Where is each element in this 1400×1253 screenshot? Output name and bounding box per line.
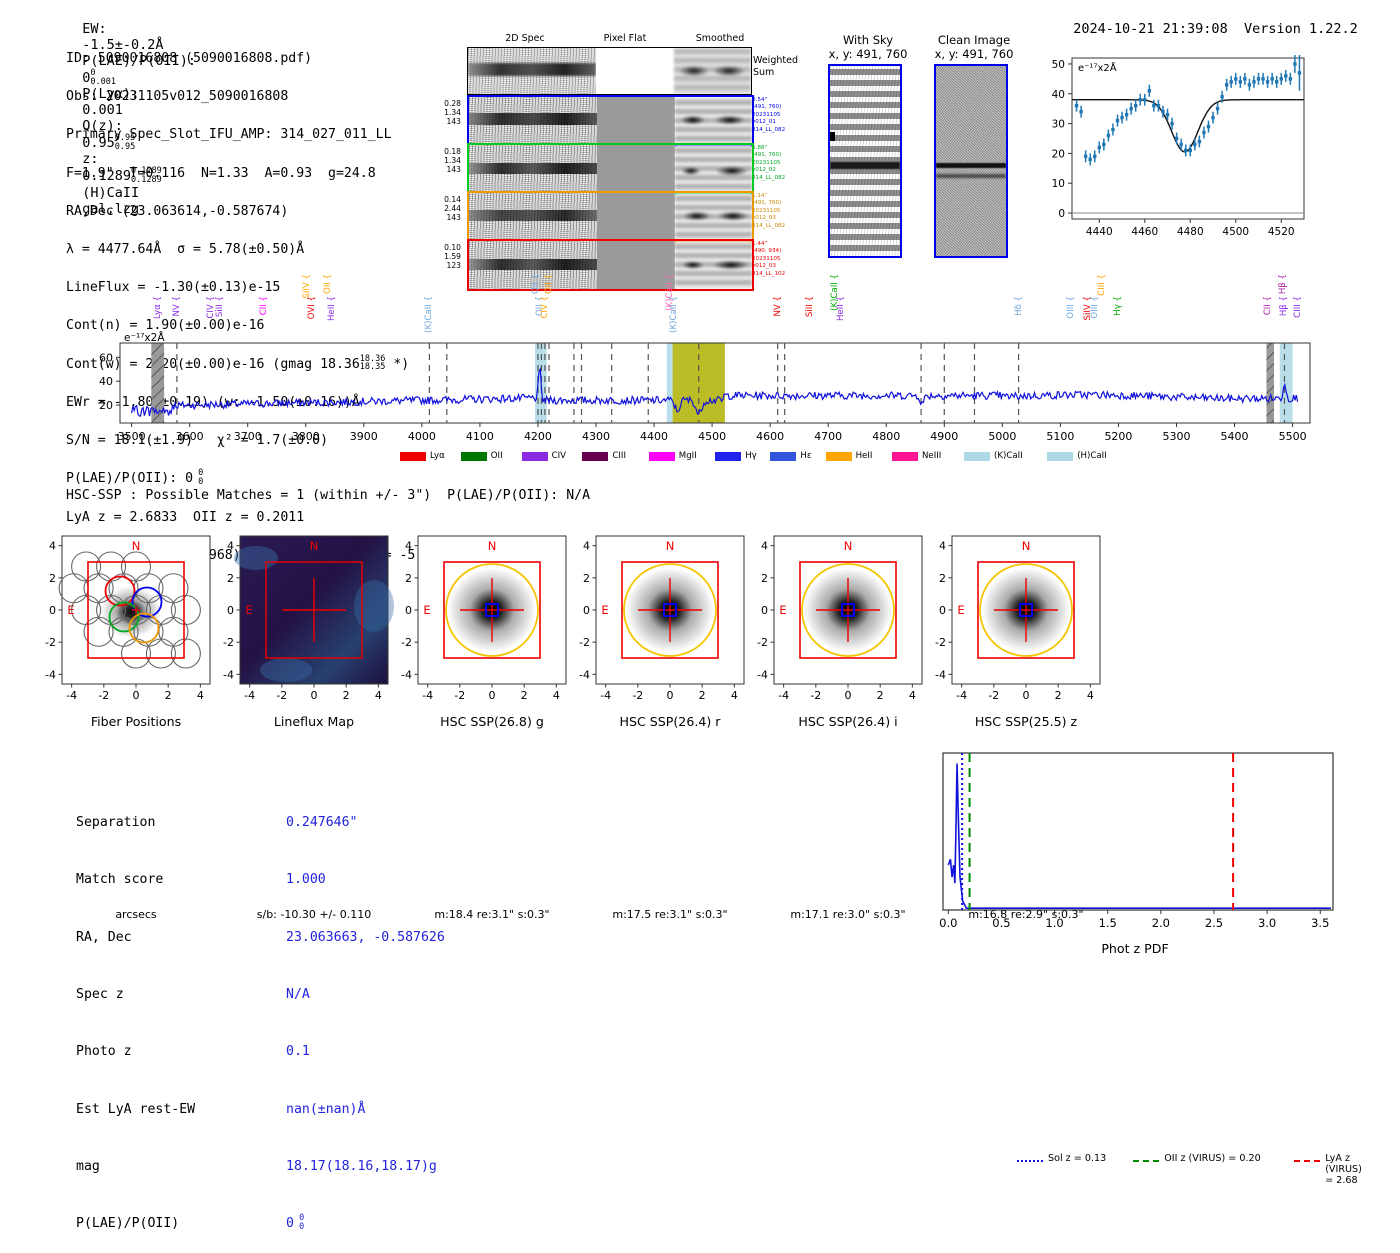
compass-n: N — [132, 539, 141, 553]
svg-text:4: 4 — [49, 540, 56, 553]
spec2d-row-stats: 0.10 1.59 123 — [425, 243, 461, 271]
svg-text:4460: 4460 — [1131, 226, 1158, 238]
svg-text:2: 2 — [877, 689, 884, 702]
legend-swatch — [964, 452, 990, 461]
spec2d-row — [467, 143, 754, 195]
svg-text:4480: 4480 — [1177, 226, 1204, 238]
legend-label: Lyα — [430, 451, 445, 461]
svg-text:0: 0 — [939, 604, 946, 617]
svg-text:3500: 3500 — [118, 430, 146, 443]
svg-text:-2: -2 — [276, 689, 287, 702]
svg-text:e⁻¹⁷x2Å: e⁻¹⁷x2Å — [1078, 61, 1117, 74]
match-table-keys: Separation Match score RA, Dec Spec z Ph… — [76, 775, 195, 1252]
svg-text:-4: -4 — [956, 689, 967, 702]
svg-text:3800: 3800 — [292, 430, 320, 443]
panel-title-fiber-positions: Fiber Positions — [42, 714, 230, 729]
with-sky-title: With Sky — [814, 33, 922, 47]
compass-e: E — [957, 603, 964, 617]
svg-text:5000: 5000 — [988, 430, 1016, 443]
svg-text:0: 0 — [405, 604, 412, 617]
svg-text:2: 2 — [49, 572, 56, 585]
svg-text:0: 0 — [761, 604, 768, 617]
svg-text:4: 4 — [227, 540, 234, 553]
svg-text:4: 4 — [197, 689, 204, 702]
compass-n: N — [1022, 539, 1031, 553]
legend-label: Hγ — [745, 451, 757, 461]
compass-e: E — [67, 603, 74, 617]
panel-caption-hsc-r: m:17.5 re:3.1" s:0.3" — [568, 908, 772, 921]
legend-label: Hε — [800, 451, 811, 461]
svg-text:4900: 4900 — [930, 430, 958, 443]
phot-z-title: Phot z PDF — [925, 941, 1345, 956]
key-photo-z: Photo z — [76, 1042, 195, 1061]
svg-text:0: 0 — [311, 689, 318, 702]
svg-text:4200: 4200 — [524, 430, 552, 443]
svg-text:3.0: 3.0 — [1258, 916, 1276, 930]
value-plae: 0 0 0 — [286, 1214, 445, 1233]
spectral-line-label: SiII { — [805, 296, 815, 317]
svg-text:4700: 4700 — [814, 430, 842, 443]
info-primary: Primary Spec_Slot_IFU_AMP: 314_027_011_L… — [66, 125, 439, 144]
value-radec: 23.063663, -0.587626 — [286, 928, 445, 947]
svg-text:4: 4 — [731, 689, 738, 702]
phot-z-pdf-chart: 0.00.51.01.52.02.53.03.5 Phot z PDFSol z… — [925, 735, 1345, 953]
compass-n: N — [666, 539, 675, 553]
legend-swatch — [892, 452, 918, 461]
full-spectrum-chart: 3500360037003800390040004100420043004400… — [0, 268, 1400, 478]
cutout-panel-row: -4-4-2-2002244NE-4-4-2-2002244NE-4-4-2-2… — [0, 508, 1400, 708]
spectral-line-label: OII { — [323, 274, 333, 294]
svg-text:2.0: 2.0 — [1152, 916, 1170, 930]
value-plae-num: 0 — [286, 1216, 294, 1231]
svg-text:-2: -2 — [98, 689, 109, 702]
spectral-line-label: Hβ { — [1279, 296, 1289, 316]
panel-title-lineflux-map: Lineflux Map — [220, 714, 408, 729]
svg-text:0: 0 — [845, 689, 852, 702]
spectral-line-label: (K)CaII { — [669, 296, 679, 333]
spec2d-row — [467, 95, 754, 147]
legend-swatch — [1047, 452, 1073, 461]
svg-text:-4: -4 — [45, 668, 56, 681]
compass-n: N — [844, 539, 853, 553]
svg-text:3.5: 3.5 — [1311, 916, 1329, 930]
svg-text:20: 20 — [99, 399, 113, 412]
svg-text:-4: -4 — [223, 668, 234, 681]
value-plae-lo: 0 — [299, 1222, 304, 1232]
svg-text:1.0: 1.0 — [1045, 916, 1063, 930]
spec2d-row — [467, 191, 754, 243]
spec2d-row-stats: 0.14 2.44 143 — [425, 195, 461, 223]
hsc-heading: HSC-SSP : Possible Matches = 1 (within +… — [66, 488, 590, 503]
photz-legend-swatch — [1133, 1160, 1159, 1162]
legend-swatch — [715, 452, 741, 461]
svg-text:0: 0 — [1058, 208, 1065, 220]
spec2d-row-stats: 0.28 1.34 143 — [425, 99, 461, 127]
value-separation: 0.247646" — [286, 813, 445, 832]
svg-text:2: 2 — [227, 572, 234, 585]
svg-text:-2: -2 — [45, 636, 56, 649]
value-mag: 18.17(18.16,18.17)g — [286, 1157, 445, 1176]
svg-text:5400: 5400 — [1221, 430, 1249, 443]
legend-swatch — [770, 452, 796, 461]
compass-e: E — [423, 603, 430, 617]
svg-text:4: 4 — [405, 540, 412, 553]
svg-text:-2: -2 — [579, 636, 590, 649]
svg-text:0: 0 — [227, 604, 234, 617]
svg-text:2: 2 — [521, 689, 528, 702]
svg-text:-2: -2 — [935, 636, 946, 649]
legend-label: NeIII — [922, 451, 941, 461]
legend-swatch — [400, 452, 426, 461]
legend-swatch — [649, 452, 675, 461]
svg-text:2: 2 — [699, 689, 706, 702]
spectral-line-label: OVI { — [307, 296, 317, 319]
svg-text:4300: 4300 — [582, 430, 610, 443]
spectral-line-label: HeII { — [327, 296, 337, 321]
spectral-line-label: CII { — [1263, 296, 1273, 315]
spec2d-montage: 2D Spec Pixel Flat Smoothed Weighted Sum… — [460, 33, 810, 261]
svg-text:5100: 5100 — [1046, 430, 1074, 443]
weighted-sum-strip — [467, 47, 752, 95]
value-match-score: 1.000 — [286, 870, 445, 889]
svg-text:1.5: 1.5 — [1099, 916, 1117, 930]
info-seeing: F=1.9" T=0.116 N=1.33 A=0.93 g=24.8 — [66, 164, 439, 183]
svg-text:4: 4 — [583, 540, 590, 553]
svg-text:4: 4 — [939, 540, 946, 553]
spectrum-legend: LyαOIICIVCIIIMgIIHγHεHeIINeIII(K)CaII(H)… — [0, 448, 1400, 472]
svg-text:0: 0 — [489, 689, 496, 702]
value-est-lya-ew: nan(±nan)Å — [286, 1100, 445, 1119]
key-radec: RA, Dec — [76, 928, 195, 947]
svg-text:-4: -4 — [244, 689, 255, 702]
legend-swatch — [826, 452, 852, 461]
svg-text:2: 2 — [761, 572, 768, 585]
svg-text:-2: -2 — [223, 636, 234, 649]
spectral-line-label: CII { — [259, 296, 269, 315]
spec2d-col-title-pixelflat: Pixel Flat — [580, 33, 670, 44]
spectral-line-label: NV { — [172, 296, 182, 317]
panel-title-hsc-g: HSC SSP(26.8) g — [398, 714, 586, 729]
spectral-line-label: NV { — [773, 296, 783, 317]
legend-label: (K)CaII — [994, 451, 1023, 461]
with-sky-cutout: With Sky x, y: 491, 760 — [822, 33, 914, 261]
compass-e: E — [601, 603, 608, 617]
svg-text:4440: 4440 — [1086, 226, 1113, 238]
svg-text:5500: 5500 — [1279, 430, 1307, 443]
svg-text:4: 4 — [761, 540, 768, 553]
photz-legend-swatch — [1017, 1160, 1043, 1162]
svg-text:30: 30 — [1052, 119, 1065, 131]
clean-image-title: Clean Image — [920, 33, 1028, 47]
spectral-line-label: Hγ { — [1113, 296, 1123, 316]
spectral-line-label: Hβ { — [1278, 274, 1288, 294]
legend-swatch — [461, 452, 487, 461]
svg-text:-4: -4 — [935, 668, 946, 681]
svg-text:40: 40 — [99, 375, 113, 388]
with-sky-coords: x, y: 491, 760 — [814, 47, 922, 61]
spec2d-row-stats: 0.18 1.34 143 — [425, 147, 461, 175]
svg-text:0: 0 — [133, 689, 140, 702]
svg-text:3900: 3900 — [350, 430, 378, 443]
svg-text:-4: -4 — [579, 668, 590, 681]
svg-text:2: 2 — [405, 572, 412, 585]
key-separation: Separation — [76, 813, 195, 832]
header-timestamp-block: 2024-10-21 21:39:08 Version 1.22.2 — [1057, 5, 1358, 37]
svg-text:4000: 4000 — [408, 430, 436, 443]
legend-swatch — [522, 452, 548, 461]
svg-text:e⁻¹⁷x2Å: e⁻¹⁷x2Å — [124, 331, 165, 344]
info-radec: RA,Dec (23.063614,-0.587674) — [66, 202, 439, 221]
compass-e: E — [245, 603, 252, 617]
value-photo-z: 0.1 — [286, 1042, 445, 1061]
svg-text:-4: -4 — [422, 689, 433, 702]
match-table-values: 0.247646" 1.000 23.063663, -0.587626 N/A… — [286, 775, 445, 1253]
svg-text:-4: -4 — [757, 668, 768, 681]
spec2d-row-meta: 1.14" (491, 760) 20231105 v012_03 314_LL… — [752, 193, 785, 230]
spectral-line-label: HeII { — [836, 296, 846, 321]
svg-text:0.0: 0.0 — [939, 916, 957, 930]
svg-text:4: 4 — [909, 689, 916, 702]
legend-label: (H)CaII — [1077, 451, 1107, 461]
svg-text:20: 20 — [1052, 148, 1065, 160]
key-match-score: Match score — [76, 870, 195, 889]
svg-text:-4: -4 — [66, 689, 77, 702]
svg-text:2.5: 2.5 — [1205, 916, 1223, 930]
svg-text:0: 0 — [667, 689, 674, 702]
svg-text:3600: 3600 — [176, 430, 204, 443]
value-spec-z: N/A — [286, 985, 445, 1004]
svg-text:0: 0 — [1023, 689, 1030, 702]
photz-legend-label: Sol z = 0.13 — [1048, 1153, 1106, 1164]
svg-text:5200: 5200 — [1104, 430, 1132, 443]
spectral-line-label: Lyα { — [153, 296, 163, 319]
spectral-line-label: OIII { — [1066, 296, 1076, 319]
spec2d-row-meta: 0.88" (491, 760) 20231105 v012_02 314_LL… — [752, 145, 785, 182]
spectral-line-label: OII { — [531, 274, 541, 294]
svg-text:-2: -2 — [401, 636, 412, 649]
svg-text:-2: -2 — [810, 689, 821, 702]
spectral-line-label: (K)CaII { — [424, 296, 434, 333]
svg-text:3700: 3700 — [234, 430, 262, 443]
photz-legend-label: LyA z (VIRUS) = 2.68 — [1325, 1153, 1362, 1186]
clean-image-coords: x, y: 491, 760 — [920, 47, 1028, 61]
panel-title-hsc-i: HSC SSP(26.4) i — [754, 714, 942, 729]
panel-title-hsc-z: HSC SSP(25.5) z — [932, 714, 1120, 729]
key-est-lya-ew: Est LyA rest-EW — [76, 1100, 195, 1119]
svg-text:4: 4 — [375, 689, 382, 702]
svg-text:-4: -4 — [600, 689, 611, 702]
key-plae: P(LAE)/P(OII) — [76, 1214, 195, 1233]
legend-swatch — [582, 452, 608, 461]
info-obs: Obs: 20231105v012_5090016808 — [66, 87, 439, 106]
svg-text:2: 2 — [1055, 689, 1062, 702]
spectral-line-label: CIII { — [1097, 274, 1107, 296]
spectral-line-label: OII { — [544, 274, 554, 294]
svg-text:10: 10 — [1052, 178, 1065, 190]
svg-text:-4: -4 — [401, 668, 412, 681]
compass-n: N — [310, 539, 319, 553]
svg-text:50: 50 — [1052, 59, 1065, 71]
spec2d-col-title-smoothed: Smoothed — [675, 33, 765, 44]
weighted-sum-label: Weighted Sum — [753, 55, 798, 79]
svg-text:4520: 4520 — [1268, 226, 1295, 238]
key-spec-z: Spec z — [76, 985, 195, 1004]
svg-text:-2: -2 — [988, 689, 999, 702]
svg-text:4600: 4600 — [756, 430, 784, 443]
legend-label: CIV — [552, 451, 566, 461]
compass-e: E — [779, 603, 786, 617]
svg-text:2: 2 — [165, 689, 172, 702]
compass-n: N — [488, 539, 497, 553]
svg-text:-2: -2 — [757, 636, 768, 649]
svg-text:40: 40 — [1052, 89, 1065, 101]
panel-caption-hsc-i: m:17.1 re:3.0" s:0.3" — [746, 908, 950, 921]
line-fit-chart: 4440446044804500452001020304050e⁻¹⁷x2Å — [1032, 36, 1314, 258]
svg-text:2: 2 — [939, 572, 946, 585]
spec2d-col-title-2dspec: 2D Spec — [480, 33, 570, 44]
svg-text:0: 0 — [583, 604, 590, 617]
version: Version 1.22.2 — [1244, 21, 1358, 37]
svg-text:-2: -2 — [454, 689, 465, 702]
svg-text:0: 0 — [49, 604, 56, 617]
info-id: ID: 5090016808 (5090016808.pdf) — [66, 49, 439, 68]
svg-text:-4: -4 — [778, 689, 789, 702]
spectral-line-label: CIII { — [1293, 296, 1303, 318]
legend-label: MgII — [679, 451, 697, 461]
panel-title-hsc-r: HSC SSP(26.4) r — [576, 714, 764, 729]
svg-text:4800: 4800 — [872, 430, 900, 443]
key-mag: mag — [76, 1157, 195, 1176]
svg-text:4500: 4500 — [1222, 226, 1249, 238]
svg-text:4: 4 — [553, 689, 560, 702]
svg-text:2: 2 — [583, 572, 590, 585]
spectral-line-label: SiIV { — [302, 274, 312, 298]
spectral-line-label: SiII { — [215, 296, 225, 317]
info-lambda: λ = 4477.64Å σ = 5.78(±0.50)Å — [66, 240, 439, 259]
clean-image-cutout: Clean Image x, y: 491, 760 — [928, 33, 1020, 261]
svg-text:4400: 4400 — [640, 430, 668, 443]
legend-label: HeII — [856, 451, 873, 461]
svg-text:5300: 5300 — [1162, 430, 1190, 443]
svg-text:4100: 4100 — [466, 430, 494, 443]
photz-legend-swatch — [1294, 1160, 1320, 1162]
spectral-line-label: CIV { — [540, 296, 550, 319]
timestamp: 2024-10-21 21:39:08 — [1073, 21, 1227, 37]
photz-legend-label: OII z (VIRUS) = 0.20 — [1164, 1153, 1261, 1164]
spectral-line-label: Hδ { — [1014, 296, 1024, 316]
legend-label: OII — [491, 451, 503, 461]
spectral-line-label: OIII { — [1090, 296, 1100, 319]
svg-text:-2: -2 — [632, 689, 643, 702]
svg-text:60: 60 — [99, 351, 113, 364]
legend-label: CIII — [612, 451, 626, 461]
svg-text:0.5: 0.5 — [992, 916, 1010, 930]
svg-text:4500: 4500 — [698, 430, 726, 443]
spec2d-row-meta: 0.54" (491, 760) 20231105 v012_01 314_LL… — [752, 97, 785, 134]
svg-text:2: 2 — [343, 689, 350, 702]
svg-text:4: 4 — [1087, 689, 1094, 702]
